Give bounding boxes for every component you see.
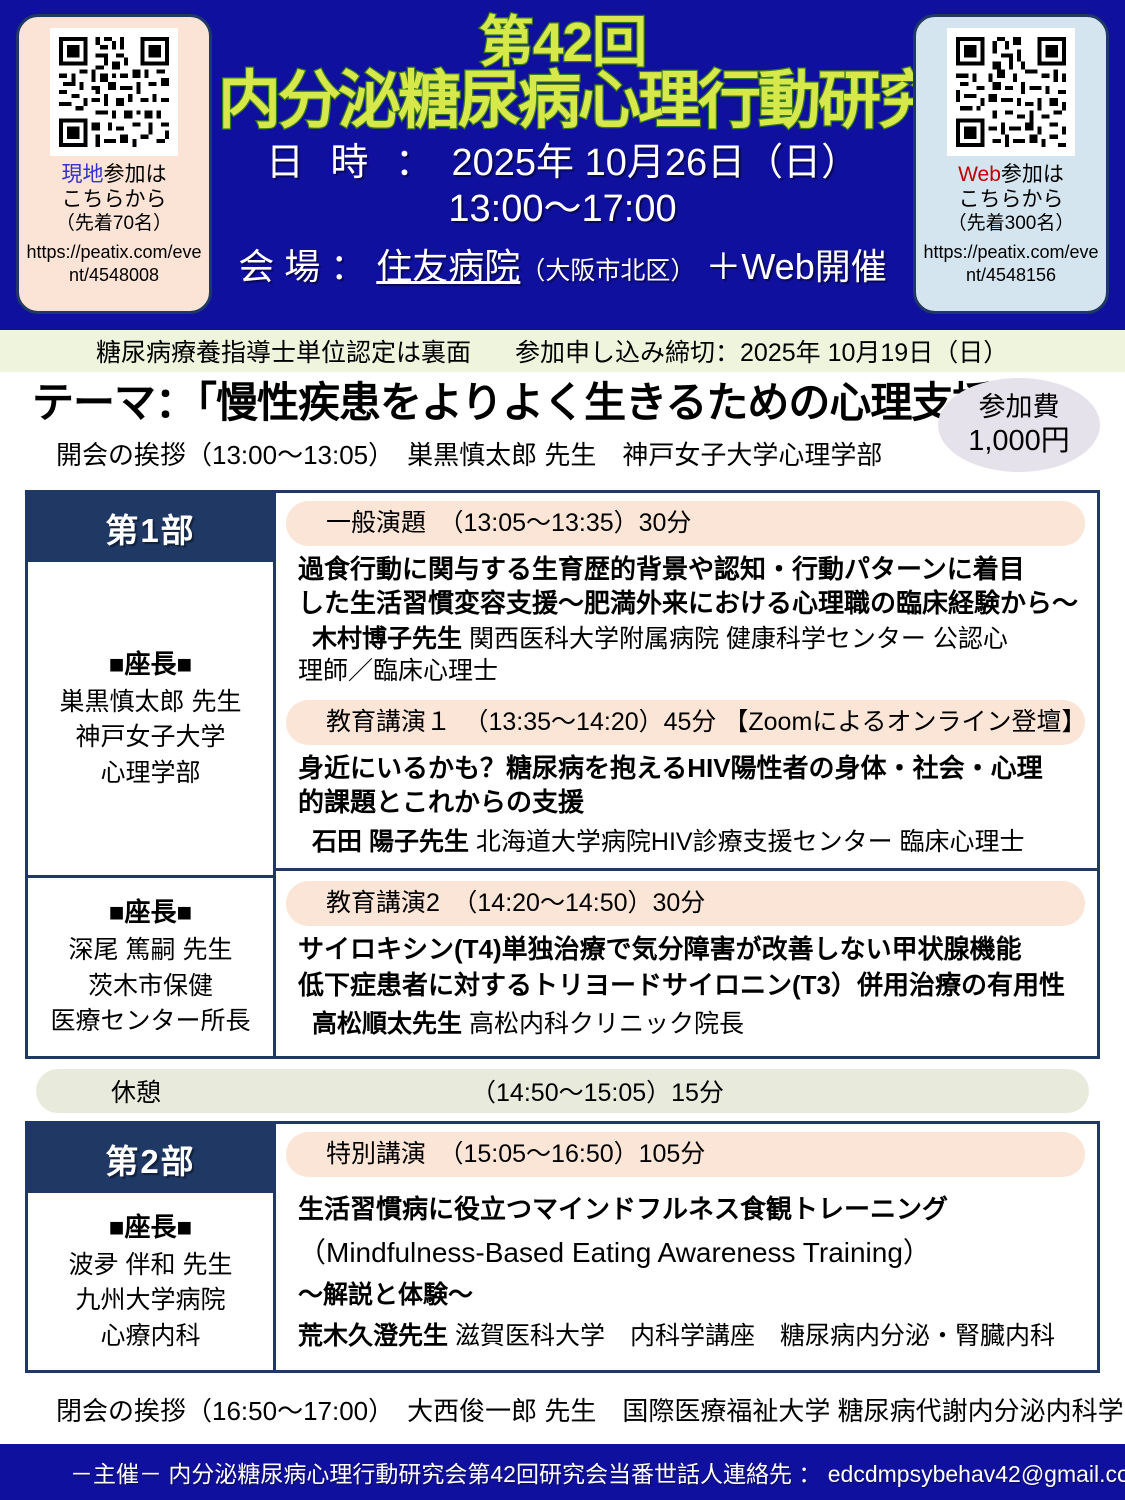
notice-left: 糖尿病療養指導士単位認定は裏面 [96,333,471,369]
break-label: 休憩 [36,1073,236,1109]
speaker-affiliation: 高松内科クリニック院長 [469,1010,744,1038]
session-title-line-1: 身近にいるかも？糖尿病を抱えるHIV陽性者の身体・社会・心理 [286,752,1085,786]
session-title-line-1: 過食行動に関与する生育歴的背景や認知・行動パターンに着目 [286,553,1085,587]
chair-block-1: ■座長■ 巣黒慎太郎 先生 神戸女子大学 心理学部 [28,562,273,875]
chair-name: 深尾 篤嗣 先生 [69,933,233,969]
chair-affil-1: 神戸女子大学 [75,720,225,756]
part-1-left-column: 第1部 ■座長■ 巣黒慎太郎 先生 神戸女子大学 心理学部 ■座長■ 深尾 篤嗣… [28,493,276,1056]
session-speaker-cont: 理師／臨床心理士 [286,655,1085,688]
qr-right-rest: 参加は [1001,163,1064,186]
qr-left-highlight: 現地 [62,163,104,186]
chair-block-2: ■座長■ 深尾 篤嗣 先生 茨木市保健 医療センター所長 [28,875,273,1056]
chair-name: 巣黒慎太郎 先生 [60,685,242,721]
header-center: 第42回 内分泌糖尿病心理行動研究会 日 時 ： 2025年 10月26日（日）… [218,0,907,330]
chair-label: ■座長■ [109,894,192,931]
qr-code-icon[interactable] [947,28,1075,156]
chair-affil-2: 医療センター所長 [50,1004,250,1040]
session-subtitle: 〜解説と体験〜 [286,1279,1085,1312]
date-line: 日 時 ： 2025年 10月26日（日） [218,140,907,186]
notice-right: 参加申し込み締切：2025年 10月19日（日） [515,333,1008,369]
qr-right-url[interactable]: https://peatix.com/event/4548156 [916,241,1106,286]
qr-left-url[interactable]: https://peatix.com/event/4548008 [19,241,209,286]
fee-label: 参加費 [979,392,1060,424]
venue-line: 会 場 ： 住友病院（大阪市北区） ＋Web開催 [218,238,907,290]
break-bar: 休憩 （14:50〜15:05）15分 [36,1069,1089,1113]
footer-host: －主催－ 内分泌糖尿病心理行動研究会 [70,1455,467,1489]
session-title-line-2: 的課題とこれからの支援 [286,786,1085,820]
session-speaker: 木村博子先生 関西医科大学附属病院 健康科学センター 公認心 [286,623,1085,656]
qr-left-line3: （先着70名） [56,213,172,236]
chair-block-3: ■座長■ 波夛 伴和 先生 九州大学病院 心療内科 [28,1193,273,1370]
poster-header: 現地参加は こちらから （先着70名） https://peatix.com/e… [0,0,1125,330]
session-title-line-2: 低下症患者に対するトリヨードサイロニン(T3）併用治療の有用性 [286,969,1085,1003]
session-edu-2: 教育講演2 （14:20〜14:50）30分 サイロキシン(T4)単独治療で気分… [276,868,1097,1050]
qr-left-line2: こちらから [62,188,167,213]
part-2-sessions: 特別講演 （15:05〜16:50）105分 生活習慣病に役立つマインドフルネス… [276,1124,1097,1370]
session-title-line-1: 生活習慣病に役立つマインドフルネス食観トレーニング [286,1193,1085,1227]
session-general: 一般演題 （13:05〜13:35）30分 過食行動に関与する生育歴的背景や認知… [276,493,1097,698]
theme-section: テーマ：「慢性疾患をよりよく生きるための心理支援」 開会の挨拶（13:00〜13… [0,372,1125,490]
session-pill: 一般演題 （13:05〜13:35）30分 [286,501,1085,546]
part-box-2: 第2部 ■座長■ 波夛 伴和 先生 九州大学病院 心療内科 特別講演 （15:0… [25,1121,1100,1373]
chair-label: ■座長■ [109,1209,192,1246]
part-box-1: 第1部 ■座長■ 巣黒慎太郎 先生 神戸女子大学 心理学部 ■座長■ 深尾 篤嗣… [25,490,1100,1059]
chair-name: 波夛 伴和 先生 [69,1248,233,1284]
chair-affil-2: 心療内科 [100,1319,200,1355]
session-pill: 教育講演１ （13:35〜14:20）45分 【Zoomによるオンライン登壇】 [286,700,1085,745]
speaker-name: 木村博子先生 [312,625,462,653]
speaker-affiliation: 北海道大学病院HIV診療支援センター 臨床心理士 [476,828,1025,856]
session-edu-1: 教育講演１ （13:35〜14:20）45分 【Zoomによるオンライン登壇】 … [276,698,1097,868]
qr-right-line1: Web参加は [958,163,1064,188]
part-2-header: 第2部 [28,1124,273,1193]
part-1-sessions: 一般演題 （13:05〜13:35）30分 過食行動に関与する生育歴的背景や認知… [276,493,1097,1056]
part-1-header: 第1部 [28,493,273,562]
qr-code-icon[interactable] [50,28,178,156]
qr-right-line2: こちらから [959,188,1064,213]
speaker-name: 荒木久澄先生 [298,1322,448,1350]
speaker-name: 高松順太先生 [312,1010,462,1038]
notice-band: 糖尿病療養指導士単位認定は裏面 参加申し込み締切：2025年 10月19日（日） [0,330,1125,372]
qr-right-line3: （先着300名） [948,213,1075,236]
venue-name: 住友病院 [376,246,520,287]
qr-panel-web[interactable]: Web参加は こちらから （先着300名） https://peatix.com… [913,14,1109,314]
program-section: 第1部 ■座長■ 巣黒慎太郎 先生 神戸女子大学 心理学部 ■座長■ 深尾 篤嗣… [0,490,1125,1373]
venue-extra: ＋Web開催 [705,246,886,287]
venue-note: （大阪市北区） [520,257,695,285]
session-title-line-2: した生活習慣変容支援〜肥満外来における心理職の臨床経験から〜 [286,587,1085,621]
chair-label: ■座長■ [109,646,192,683]
qr-right-highlight: Web [958,163,1001,186]
session-speaker: 荒木久澄先生 滋賀医科大学 内科学講座 糖尿病内分泌・腎臓内科 [286,1320,1085,1353]
venue-label: 会 場 ： [238,246,366,287]
qr-left-line1: 現地参加は [62,163,167,188]
session-speaker: 高松順太先生 高松内科クリニック院長 [286,1008,1085,1041]
session-title-line-1: サイロキシン(T4)単独治療で気分障害が改善しない甲状腺機能 [286,933,1085,967]
time-value: 13:00〜17:00 [218,188,907,232]
fee-badge: 参加費 1,000円 [938,378,1100,472]
fee-value: 1,000円 [968,424,1070,458]
session-pill: 特別講演 （15:05〜16:50）105分 [286,1132,1085,1177]
chair-affil-2: 心理学部 [100,756,200,792]
edition-number: 第42回 [218,14,907,72]
footer-bar: －主催－ 内分泌糖尿病心理行動研究会 第42回研究会当番世話人連絡先 ： edc… [0,1444,1125,1500]
qr-left-rest: 参加は [104,163,167,186]
session-speaker: 石田 陽子先生 北海道大学病院HIV診療支援センター 臨床心理士 [286,826,1085,859]
chair-affil-1: 茨木市保健 [88,969,213,1005]
session-pill: 教育講演2 （14:20〜14:50）30分 [286,881,1085,926]
speaker-affiliation: 関西医科大学附属病院 健康科学センター 公認心 [469,625,1008,653]
part-2-left-column: 第2部 ■座長■ 波夛 伴和 先生 九州大学病院 心療内科 [28,1124,276,1370]
session-special: 特別講演 （15:05〜16:50）105分 生活習慣病に役立つマインドフルネス… [276,1124,1097,1362]
speaker-affiliation: 滋賀医科大学 内科学講座 糖尿病内分泌・腎臓内科 [455,1322,1055,1350]
speaker-name: 石田 陽子先生 [312,828,469,856]
session-title-line-2: （Mindfulness-Based Eating Awareness Trai… [286,1235,1085,1271]
date-label: 日 時 ： [266,142,441,184]
chair-affil-1: 九州大学病院 [75,1283,225,1319]
poster-title: 内分泌糖尿病心理行動研究会 [218,68,907,134]
date-value: 2025年 10月26日（日） [452,142,860,184]
closing-remarks: 閉会の挨拶（16:50〜17:00） 大西俊一郎 先生 国際医療福祉大学 糖尿病… [0,1383,1125,1428]
footer-contact[interactable]: 第42回研究会当番世話人連絡先 ： edcdmpsybehav42@gmail.… [467,1455,1125,1489]
qr-panel-onsite[interactable]: 現地参加は こちらから （先着70名） https://peatix.com/e… [16,14,212,314]
break-time: （14:50〜15:05）15分 [236,1073,1089,1109]
